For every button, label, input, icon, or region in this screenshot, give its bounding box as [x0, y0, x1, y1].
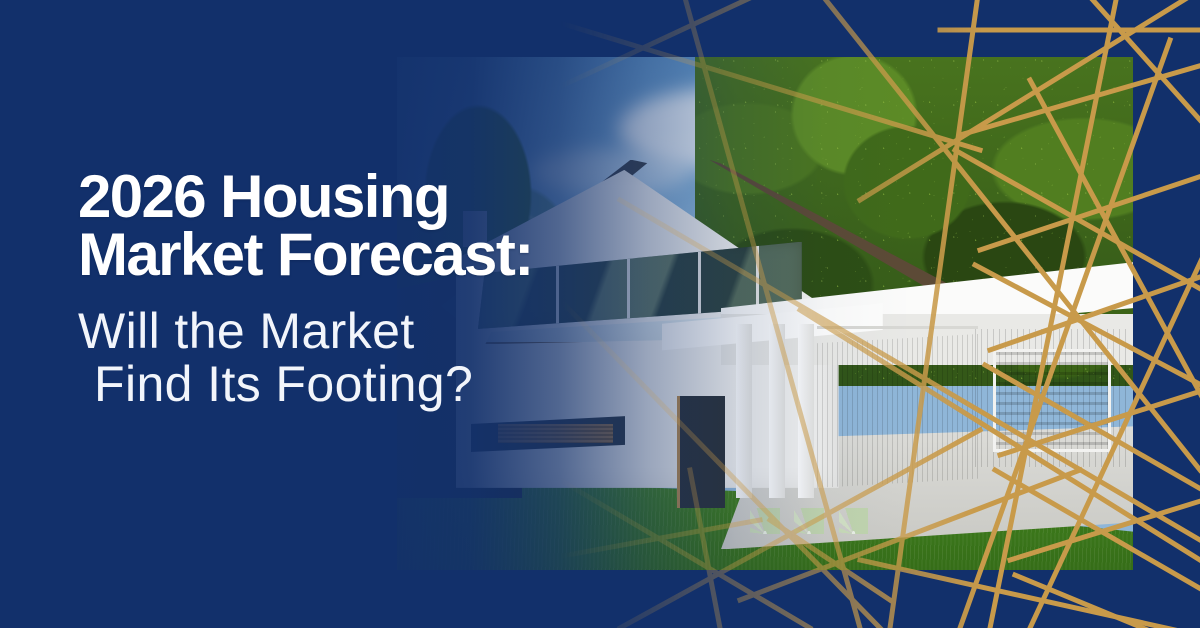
headline-line-2: Market Forecast: [78, 226, 638, 284]
subhead-line-2: Find Its Footing? [78, 358, 638, 411]
housing-market-forecast-banner: 2026 Housing Market Forecast: Will the M… [0, 0, 1200, 628]
page-title: 2026 Housing Market Forecast: [78, 168, 638, 283]
gold-geometric-lines-pattern [560, 0, 1200, 628]
subhead-line-1: Will the Market [78, 305, 638, 358]
headline-line-1: 2026 Housing [78, 168, 638, 226]
text-block: 2026 Housing Market Forecast: Will the M… [78, 168, 638, 411]
pattern-fade-mask [560, 0, 1200, 628]
page-subtitle: Will the Market Find Its Footing? [78, 305, 638, 411]
